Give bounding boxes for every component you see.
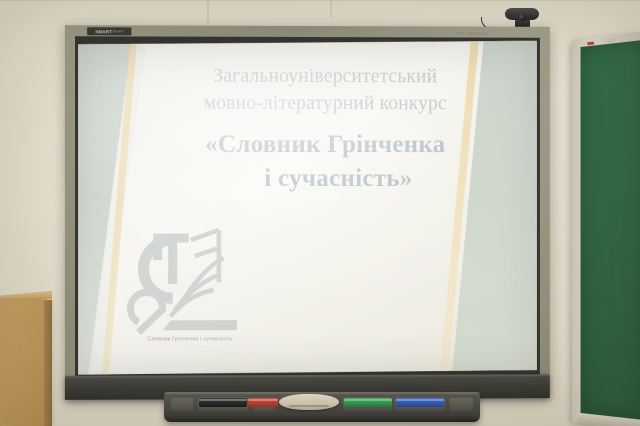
smart-brand-text: SMART (95, 29, 112, 34)
classroom-scene: Словник Грінченка і сучасність Загальноу… (0, 0, 640, 426)
wooden-cabinet (0, 300, 50, 426)
smart-brand-logo: SMART Board (87, 27, 131, 35)
inventory-label: INV. 10101134 (457, 30, 509, 37)
pen-black[interactable] (199, 398, 247, 407)
smart-brand-subtext: Board (113, 29, 123, 33)
wooden-cabinet-edge (44, 300, 52, 426)
smart-board[interactable]: Словник Грінченка і сучасність Загальноу… (65, 25, 550, 400)
pen-tray-shadow (166, 415, 478, 422)
webcam-body (505, 8, 539, 20)
projected-slide[interactable]: Словник Грінченка і сучасність Загальноу… (78, 39, 537, 374)
pen-blue[interactable] (396, 398, 444, 407)
webcam (505, 5, 539, 25)
bottom-bar-highlight (65, 374, 550, 378)
wall-seam-vertical-right (330, 0, 332, 18)
inventory-label-text: INV. 10101134 (457, 31, 488, 36)
eraser[interactable] (279, 394, 339, 410)
chalkboard-surface (581, 40, 640, 421)
wall-seam-horizontal (0, 0, 640, 1)
slide-vignette (78, 39, 537, 374)
webcam-lens-icon (518, 14, 526, 21)
eraser-seam (289, 405, 329, 407)
pen-tray[interactable] (164, 392, 480, 422)
green-chalkboard (572, 31, 640, 426)
pen-red[interactable] (248, 398, 278, 407)
pen-green[interactable] (344, 398, 392, 407)
pen-tray-slot-0 (170, 396, 194, 411)
pen-tray-slot-5 (449, 396, 474, 411)
